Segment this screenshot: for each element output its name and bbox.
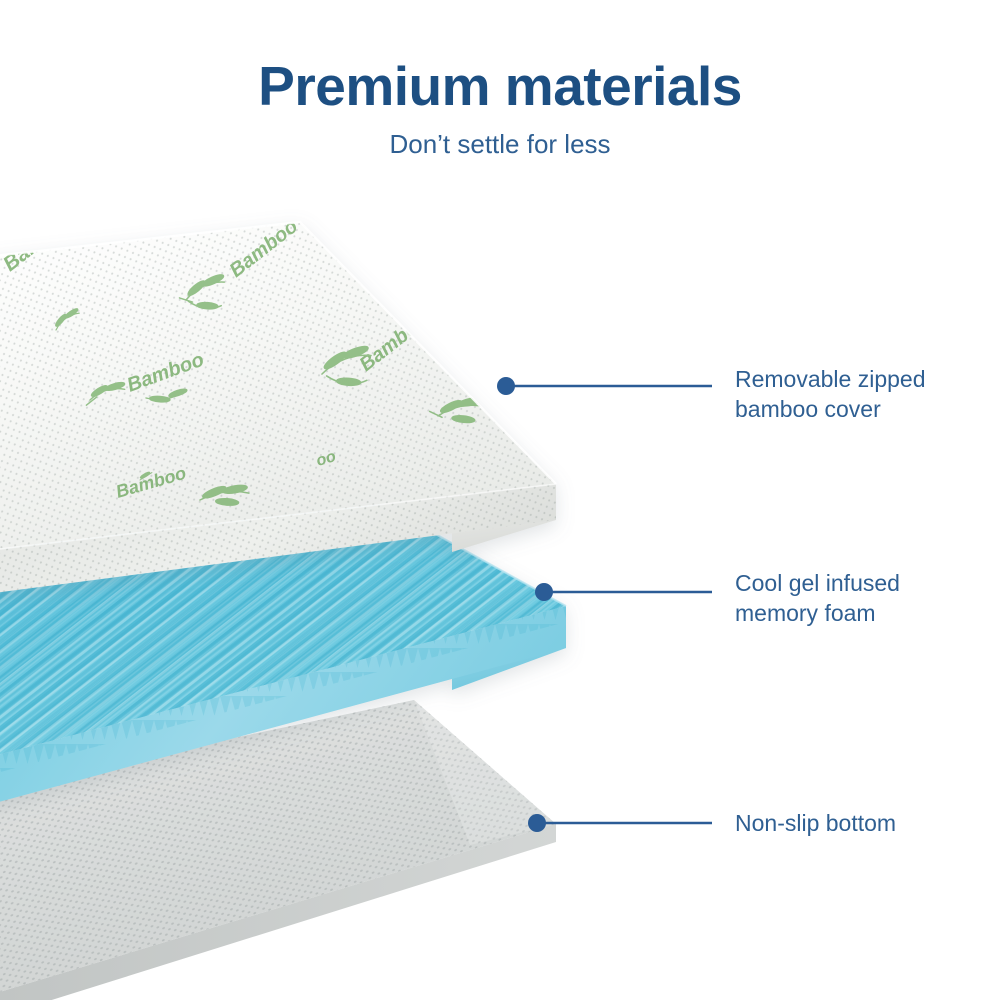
callout-dot-non-slip-bottom [528, 814, 546, 832]
callout-label-gel-foam: Cool gel infused memory foam [735, 568, 900, 629]
layer-bamboo-cover: Bamboo Bamboo Bamboo Bamboo Bamboo oo [0, 206, 620, 600]
callout-dot-bamboo-cover [497, 377, 515, 395]
callout-label-non-slip-bottom: Non-slip bottom [735, 808, 896, 838]
callout-dot-gel-foam [535, 583, 553, 601]
callout-bamboo-cover[interactable] [497, 377, 712, 395]
infographic-canvas: Premium materials Don’t settle for less [0, 0, 1000, 1000]
callout-label-bamboo-cover: Removable zipped bamboo cover [735, 364, 926, 425]
callout-gel-foam[interactable] [535, 583, 712, 601]
product-exploded-view: Bamboo Bamboo Bamboo Bamboo Bamboo oo [0, 0, 1000, 1000]
